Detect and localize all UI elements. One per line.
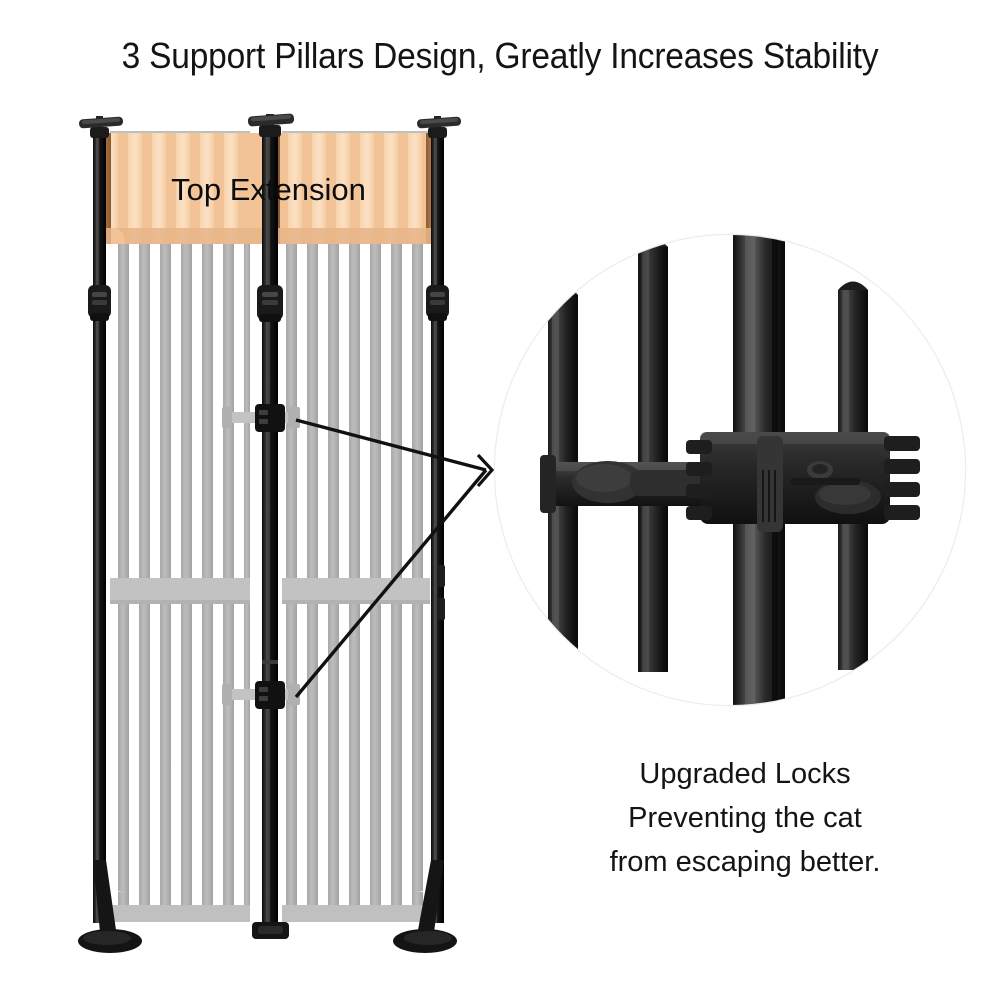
lock-closeup-artwork [495,235,965,705]
lock-screw [807,461,833,479]
detail-caption-line-3: from escaping better. [520,840,970,884]
top-extension-label: Top Extension [97,171,440,209]
illustration-stage: Top Extension Upgraded Locks Preventing … [0,0,1000,1000]
detail-caption-line-2: Preventing the cat [520,796,970,840]
detail-caption: Upgraded Locks Preventing the cat from e… [520,752,970,884]
lock-housing [686,432,920,532]
detail-caption-line-1: Upgraded Locks [520,752,970,796]
callout-line-upper [296,420,486,470]
callout-line-lower [296,470,486,697]
